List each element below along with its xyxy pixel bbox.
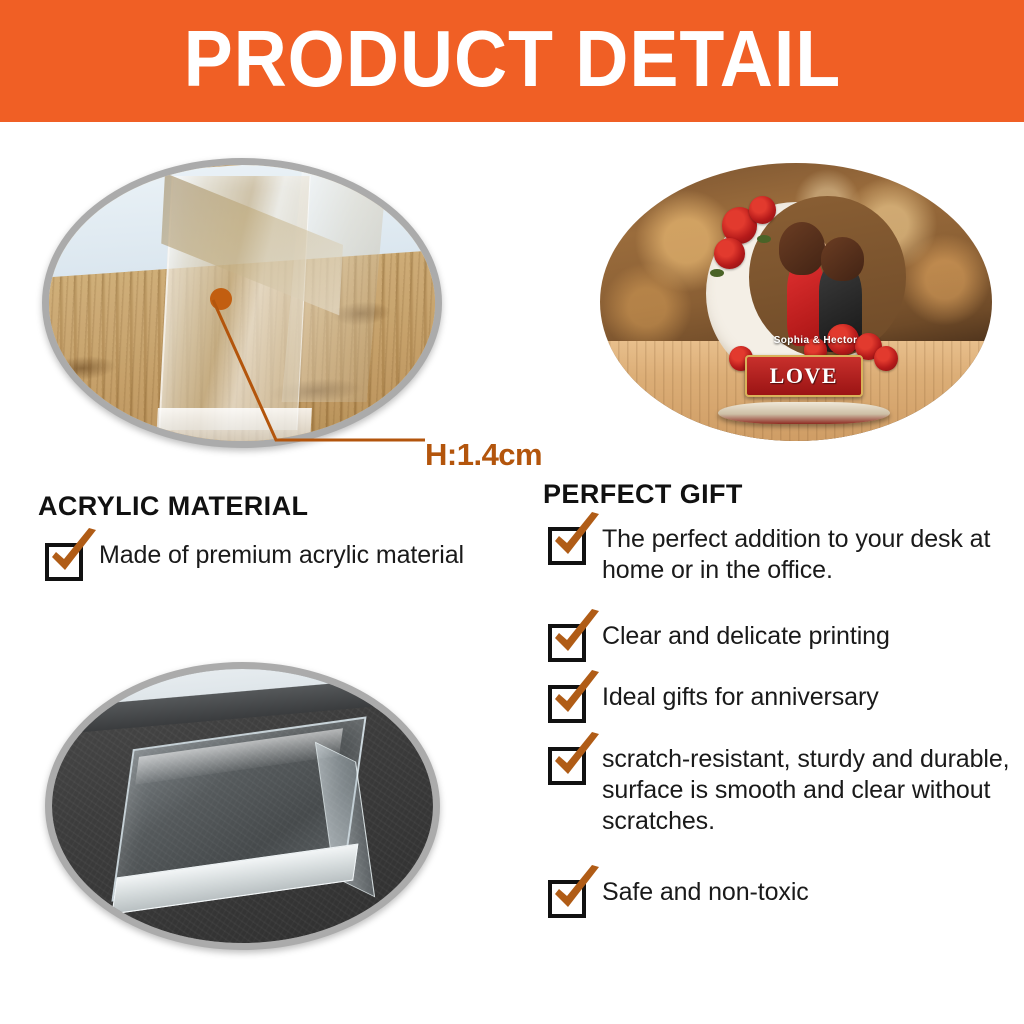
slate-top-edge bbox=[45, 662, 440, 736]
slate-background bbox=[52, 669, 433, 943]
check-glyph-icon bbox=[547, 512, 603, 564]
page-title: PRODUCT DETAIL bbox=[183, 19, 841, 103]
section-heading-perfect-gift: PERFECT GIFT bbox=[543, 479, 743, 510]
check-glyph-icon bbox=[547, 670, 603, 722]
checkmark-icon bbox=[45, 543, 83, 581]
checkmark-icon bbox=[548, 527, 586, 565]
checkmark-icon bbox=[548, 880, 586, 918]
feature-item: scratch-resistant, sturdy and durable, s… bbox=[548, 744, 1018, 837]
feature-text: Safe and non-toxic bbox=[602, 877, 809, 908]
check-glyph-icon bbox=[44, 528, 100, 580]
woman-hair bbox=[779, 222, 826, 275]
checkmark-icon bbox=[548, 624, 586, 662]
man-hair bbox=[821, 237, 864, 281]
product-detail-infographic: PRODUCT DETAIL H:1.4cm bbox=[0, 0, 1024, 1024]
personalized-couple-names: Sophia & Hector bbox=[749, 335, 882, 346]
feature-item: Clear and delicate printing bbox=[548, 621, 1018, 662]
feature-item: Safe and non-toxic bbox=[548, 877, 1018, 918]
feature-text: Clear and delicate printing bbox=[602, 621, 890, 652]
checkmark-icon bbox=[548, 747, 586, 785]
figurine-base bbox=[718, 402, 890, 424]
feature-item: The perfect addition to your desk at hom… bbox=[548, 524, 1018, 586]
checkmark-icon bbox=[548, 685, 586, 723]
dimension-leader-line bbox=[180, 292, 440, 462]
check-glyph-icon bbox=[547, 609, 603, 661]
section-heading-acrylic-material: ACRYLIC MATERIAL bbox=[38, 491, 308, 522]
feature-item: Made of premium acrylic material bbox=[45, 540, 464, 581]
feature-text: Ideal gifts for anniversary bbox=[602, 682, 879, 713]
love-plaque: LOVE bbox=[745, 355, 863, 397]
photo-acrylic-block-on-slate bbox=[45, 662, 440, 950]
check-glyph-icon bbox=[547, 732, 603, 784]
leaf-icon bbox=[710, 269, 724, 277]
feature-text: The perfect addition to your desk at hom… bbox=[602, 524, 1018, 586]
feature-item: Ideal gifts for anniversary bbox=[548, 682, 1018, 723]
rose-icon bbox=[714, 238, 745, 269]
header-banner: PRODUCT DETAIL bbox=[0, 0, 1024, 122]
check-glyph-icon bbox=[547, 865, 603, 917]
feature-text: scratch-resistant, sturdy and durable, s… bbox=[602, 744, 1018, 837]
wood-grain-knot bbox=[47, 354, 119, 383]
feature-text: Made of premium acrylic material bbox=[99, 540, 464, 571]
perfect-gift-feature-list: The perfect addition to your desk at hom… bbox=[548, 524, 1018, 802]
dimension-label: H:1.4cm bbox=[425, 437, 542, 473]
photo-love-moon-figurine: Sophia & Hector LOVE bbox=[600, 163, 992, 441]
love-plaque-text: LOVE bbox=[770, 363, 838, 389]
